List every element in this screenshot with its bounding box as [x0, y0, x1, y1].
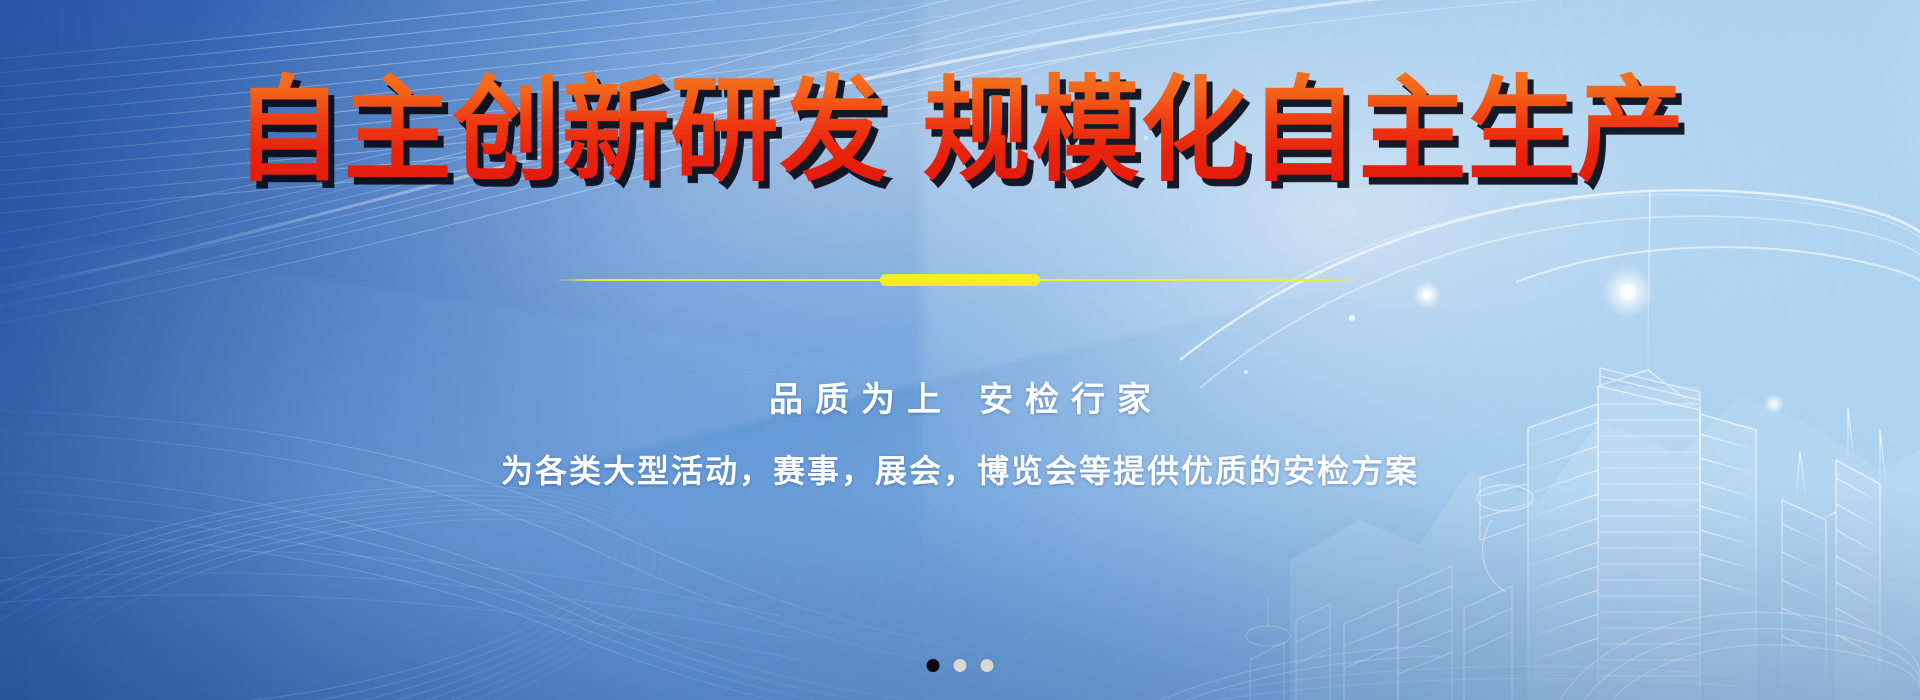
headline-part-2: 规模化自主生产 — [923, 65, 1686, 198]
subtitle-main-part-a: 品质为上 — [769, 380, 953, 420]
banner-content: 自主创新研发规模化自主生产 品质为上安检行家 为各类大型活动，赛事，展会，博览会… — [0, 0, 1920, 700]
carousel-dot-1[interactable] — [927, 659, 940, 672]
banner-subtitle-description: 为各类大型活动，赛事，展会，博览会等提供优质的安检方案 — [0, 446, 1920, 492]
carousel-indicators[interactable] — [927, 659, 994, 672]
banner-subtitle-main: 品质为上安检行家 — [0, 372, 1920, 421]
subtitle-main-part-b: 安检行家 — [979, 380, 1163, 420]
carousel-dot-2[interactable] — [954, 659, 967, 672]
hero-banner: 自主创新研发规模化自主生产 品质为上安检行家 为各类大型活动，赛事，展会，博览会… — [0, 0, 1920, 700]
divider-thick-bar — [880, 274, 1040, 286]
banner-headline: 自主创新研发规模化自主生产 — [0, 68, 1920, 196]
carousel-dot-3[interactable] — [981, 659, 994, 672]
headline-part-1: 自主创新研发 — [234, 65, 888, 198]
headline-divider — [554, 274, 1366, 286]
